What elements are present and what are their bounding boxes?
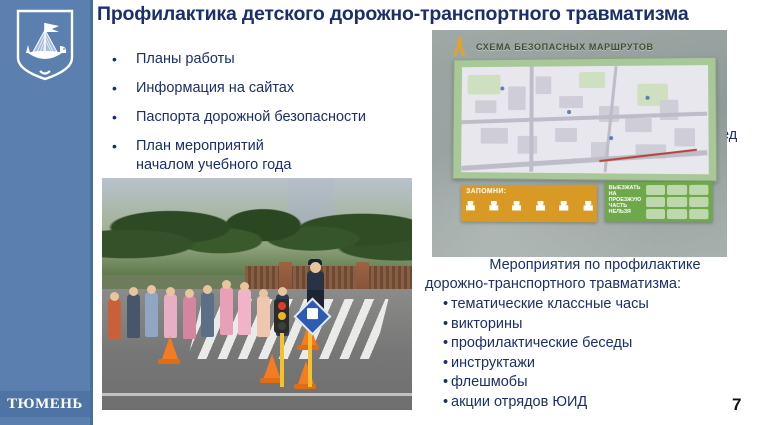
bullet-glyph: • bbox=[425, 315, 451, 335]
child-figure bbox=[108, 299, 121, 339]
activities-list: • тематические классные часы • викторины… bbox=[425, 295, 755, 412]
traffic-cone bbox=[161, 336, 179, 362]
list-item-label: Информация на сайтах bbox=[136, 79, 422, 98]
child-figure bbox=[127, 294, 140, 338]
children-at-crosswalk-photo bbox=[102, 178, 412, 410]
list-item-label: Паспорта дорожной безопасности bbox=[136, 108, 422, 127]
list-item: • Паспорта дорожной безопасности bbox=[112, 108, 422, 127]
bullet-glyph: • bbox=[425, 354, 451, 374]
list-item-label: тематические классные часы bbox=[451, 295, 755, 315]
section-heading-line1: Мероприятия по профилактике bbox=[425, 256, 755, 275]
road-curb-line bbox=[102, 393, 412, 396]
officer-head bbox=[310, 262, 321, 273]
traffic-light-yellow bbox=[278, 312, 286, 320]
traffic-light bbox=[274, 299, 289, 333]
list-item-label: флешмобы bbox=[451, 373, 755, 393]
list-item: • Информация на сайтах bbox=[112, 79, 422, 98]
pedestrian-crossing-sign-glyph bbox=[307, 308, 318, 319]
traffic-cone bbox=[263, 354, 281, 380]
traffic-cone-base bbox=[158, 359, 180, 364]
child-figure bbox=[238, 289, 251, 335]
bullet-glyph: • bbox=[425, 295, 451, 315]
list-item: • План мероприятий началом учебного года bbox=[112, 137, 422, 175]
list-item: • флешмобы bbox=[425, 373, 755, 393]
list-item-label: викторины bbox=[451, 315, 755, 335]
right-text-block: Мероприятия по профилактике дорожно-тран… bbox=[425, 256, 755, 412]
child-figure bbox=[145, 292, 158, 337]
child-figure bbox=[164, 294, 177, 338]
list-item: • викторины bbox=[425, 315, 755, 335]
child-figure bbox=[183, 296, 196, 339]
bullet-glyph: • bbox=[112, 50, 136, 69]
left-bullet-list: • Планы работы • Информация на сайтах • … bbox=[112, 50, 422, 185]
sidebar-edge-divider bbox=[90, 0, 93, 425]
list-item: • тематические классные часы bbox=[425, 295, 755, 315]
traffic-light-green bbox=[278, 322, 286, 330]
bullet-glyph: • bbox=[425, 334, 451, 354]
bullet-glyph: • bbox=[425, 393, 451, 413]
board-title-label: СХЕМА БЕЗОПАСНЫХ МАРШРУТОВ bbox=[476, 42, 654, 52]
list-item-label: инструктажи bbox=[451, 354, 755, 374]
child-figure bbox=[257, 296, 270, 337]
list-item: • Планы работы bbox=[112, 50, 422, 69]
brand-label: ТЮМЕНЬ bbox=[7, 396, 83, 413]
list-item-label: акции отрядов ЮИД bbox=[451, 393, 755, 413]
bullet-glyph: • bbox=[112, 108, 136, 127]
pedestrian-icon bbox=[450, 37, 470, 57]
rules-panel-text: ВЫЕЗЖАТЬ НА ПРОЕЗЖУЮ ЧАСТЬ НЕЛЬЗЯ bbox=[609, 185, 642, 215]
page-number: 7 bbox=[732, 395, 741, 415]
board-heading: СХЕМА БЕЗОПАСНЫХ МАРШРУТОВ bbox=[450, 36, 710, 58]
list-item: • инструктажи bbox=[425, 354, 755, 374]
list-item-label: Планы работы bbox=[136, 50, 422, 69]
bullet-glyph: • bbox=[425, 373, 451, 393]
remember-pictograms bbox=[466, 198, 593, 216]
route-map-panel bbox=[452, 57, 717, 182]
section-heading-line2: дорожно-транспортного травматизма: bbox=[425, 275, 755, 294]
list-item-label-line2: началом учебного года bbox=[136, 156, 422, 175]
traffic-cone-base bbox=[260, 378, 282, 383]
list-item-label: профилактические беседы bbox=[451, 334, 755, 354]
bullet-glyph: • bbox=[112, 79, 136, 98]
remember-panel: ЗАПОМНИ: bbox=[461, 185, 597, 223]
traffic-light-red bbox=[278, 302, 286, 310]
list-item: • акции отрядов ЮИД bbox=[425, 393, 755, 413]
traffic-cone-base bbox=[294, 384, 316, 389]
presentation-slide: ТЮМЕНЬ Профилактика детского дорожно-тра… bbox=[0, 0, 760, 425]
route-map-drawing bbox=[461, 65, 709, 174]
child-figure bbox=[201, 292, 214, 337]
brand-bar: ТЮМЕНЬ bbox=[0, 391, 90, 417]
bullet-glyph: • bbox=[112, 137, 136, 156]
list-item-label-line1: План мероприятий bbox=[136, 138, 264, 154]
list-item: • профилактические беседы bbox=[425, 334, 755, 354]
child-figure bbox=[220, 287, 233, 335]
remember-panel-title: ЗАПОМНИ: bbox=[466, 188, 506, 195]
page-title: Профилактика детского дорожно-транспортн… bbox=[97, 2, 757, 26]
rules-panel: ВЫЕЗЖАТЬ НА ПРОЕЗЖУЮ ЧАСТЬ НЕЛЬЗЯ bbox=[605, 182, 713, 223]
tyumen-coat-of-arms-icon bbox=[14, 8, 76, 82]
safe-routes-board-photo: СХЕМА БЕЗОПАСНЫХ МАРШРУТОВ bbox=[432, 30, 727, 257]
rules-panel-icon-grid bbox=[646, 185, 708, 219]
list-item-label: План мероприятий началом учебного года bbox=[136, 137, 422, 175]
traffic-cone bbox=[297, 361, 315, 387]
